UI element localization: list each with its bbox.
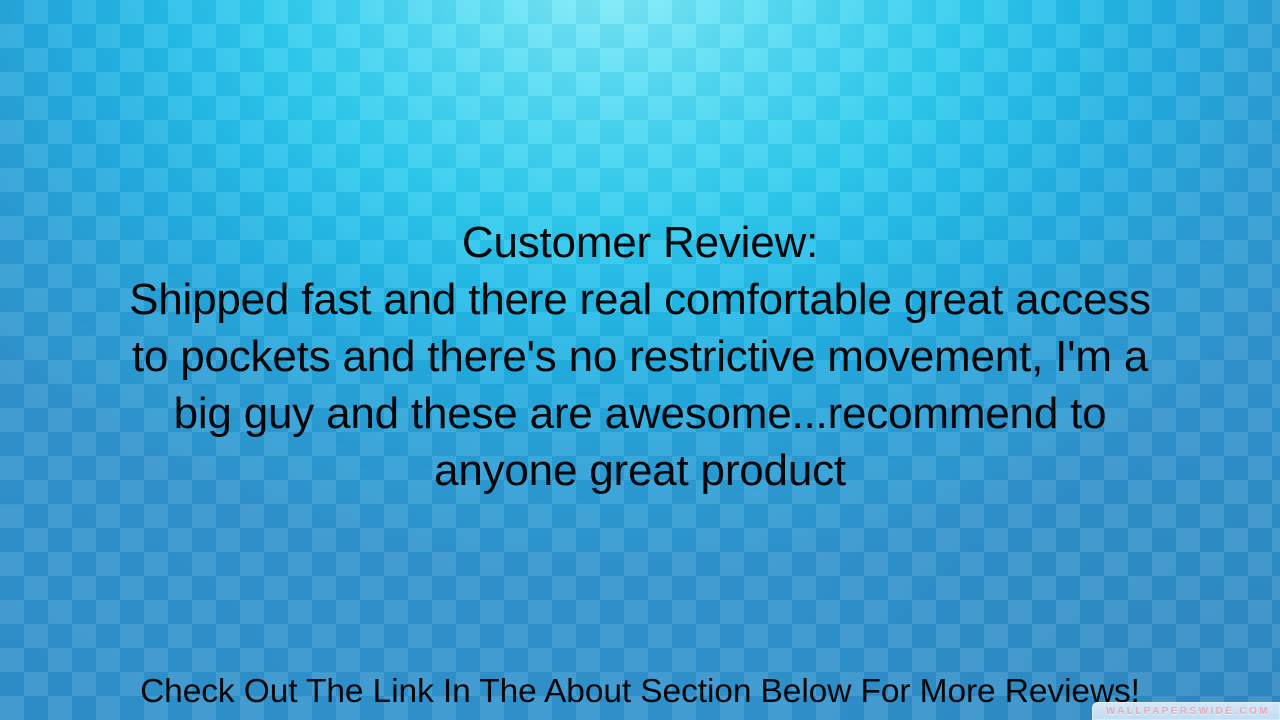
wallpaper-canvas: Customer Review: Shipped fast and there …: [0, 0, 1280, 720]
customer-review-text-block: Customer Review: Shipped fast and there …: [0, 214, 1280, 499]
customer-review-heading: Customer Review:: [0, 214, 1280, 271]
customer-review-line-3: big guy and these are awesome...recommen…: [0, 385, 1280, 442]
customer-review-line-1: Shipped fast and there real comfortable …: [0, 271, 1280, 328]
call-to-action-text: Check Out The Link In The About Section …: [0, 672, 1280, 712]
watermark-label: WALLPAPERSWIDE.COM: [1106, 706, 1270, 717]
customer-review-line-2: to pockets and there's no restrictive mo…: [0, 328, 1280, 385]
customer-review-line-4: anyone great product: [0, 442, 1280, 499]
watermark-panel: WALLPAPERSWIDE.COM: [1092, 702, 1280, 720]
